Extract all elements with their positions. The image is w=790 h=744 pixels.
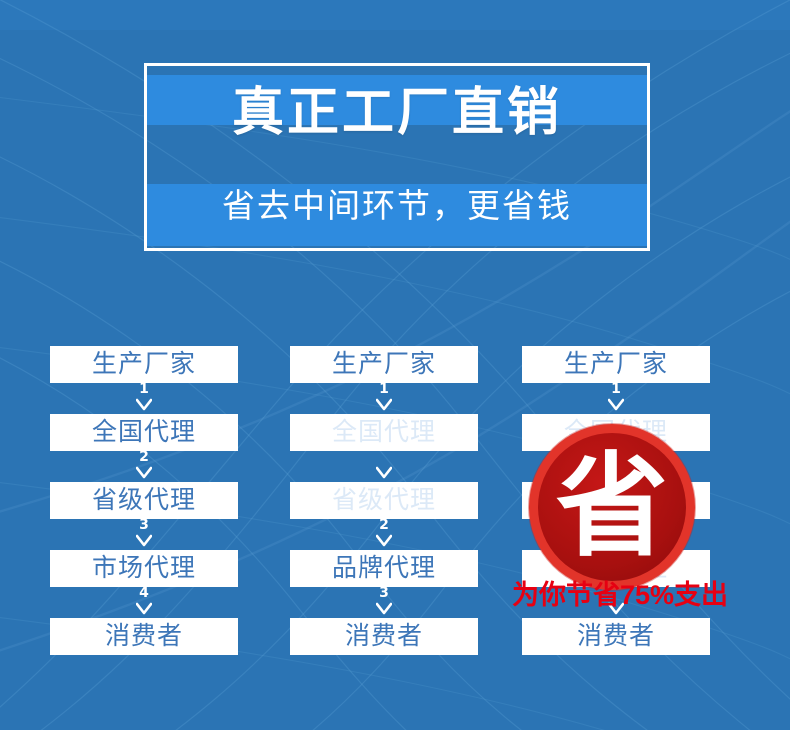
- flow-node: 消费者: [50, 618, 238, 655]
- flow-node: 生产厂家: [290, 346, 478, 383]
- flow-connector: [290, 451, 478, 482]
- flow-connector: 3: [50, 519, 238, 550]
- flow-column-shortened-channel: 生产厂家 1 全国代理 省级代理 2 品牌代理 3 消费者: [290, 346, 478, 655]
- chevron-down-icon: [376, 466, 392, 480]
- flow-connector: 1: [50, 383, 238, 414]
- flow-connector: 1: [290, 383, 478, 414]
- flow-node: 消费者: [522, 618, 710, 655]
- flow-node-inactive: 全国代理: [290, 414, 478, 451]
- connector-step-number: 1: [379, 382, 389, 396]
- savings-callout-text: 为你节省75%支出: [470, 578, 770, 612]
- savings-seal-inner: 省: [538, 433, 686, 581]
- connector-step-number: 3: [379, 586, 389, 600]
- chevron-down-icon: [376, 534, 392, 548]
- flow-connector: 1: [522, 383, 710, 414]
- flow-node: 生产厂家: [522, 346, 710, 383]
- flow-node-inactive: 省级代理: [290, 482, 478, 519]
- connector-step-number: 1: [139, 382, 149, 396]
- connector-step-number: 1: [611, 382, 621, 396]
- chevron-down-icon: [376, 398, 392, 412]
- flow-connector: 2: [290, 519, 478, 550]
- promo-banner: 真正工厂直销 省去中间环节，更省钱 生产厂家 1 全国代理 2 省级代理 3 市…: [0, 0, 790, 744]
- flow-connector: 2: [50, 451, 238, 482]
- blue-background: 真正工厂直销 省去中间环节，更省钱 生产厂家 1 全国代理 2 省级代理 3 市…: [0, 0, 790, 730]
- chevron-down-icon: [136, 466, 152, 480]
- savings-seal-character: 省: [556, 451, 668, 563]
- connector-step-number: 3: [139, 518, 149, 532]
- connector-step-number: 2: [139, 450, 149, 464]
- chevron-down-icon: [136, 602, 152, 616]
- chevron-down-icon: [136, 534, 152, 548]
- flow-node: 品牌代理: [290, 550, 478, 587]
- flow-node: 全国代理: [50, 414, 238, 451]
- flow-column-traditional-channel: 生产厂家 1 全国代理 2 省级代理 3 市场代理 4 消费者: [50, 346, 238, 655]
- chevron-down-icon: [136, 398, 152, 412]
- flow-connector: 3: [290, 587, 478, 618]
- page-subtitle: 省去中间环节，更省钱: [144, 180, 650, 232]
- page-title: 真正工厂直销: [144, 78, 650, 148]
- connector-step-number: 2: [379, 518, 389, 532]
- savings-seal-badge: 省: [529, 424, 695, 590]
- flow-node: 消费者: [290, 618, 478, 655]
- flow-node: 生产厂家: [50, 346, 238, 383]
- flow-node: 省级代理: [50, 482, 238, 519]
- flow-connector: 4: [50, 587, 238, 618]
- chevron-down-icon: [608, 398, 624, 412]
- flow-node: 市场代理: [50, 550, 238, 587]
- chevron-down-icon: [376, 602, 392, 616]
- connector-step-number: 4: [139, 586, 149, 600]
